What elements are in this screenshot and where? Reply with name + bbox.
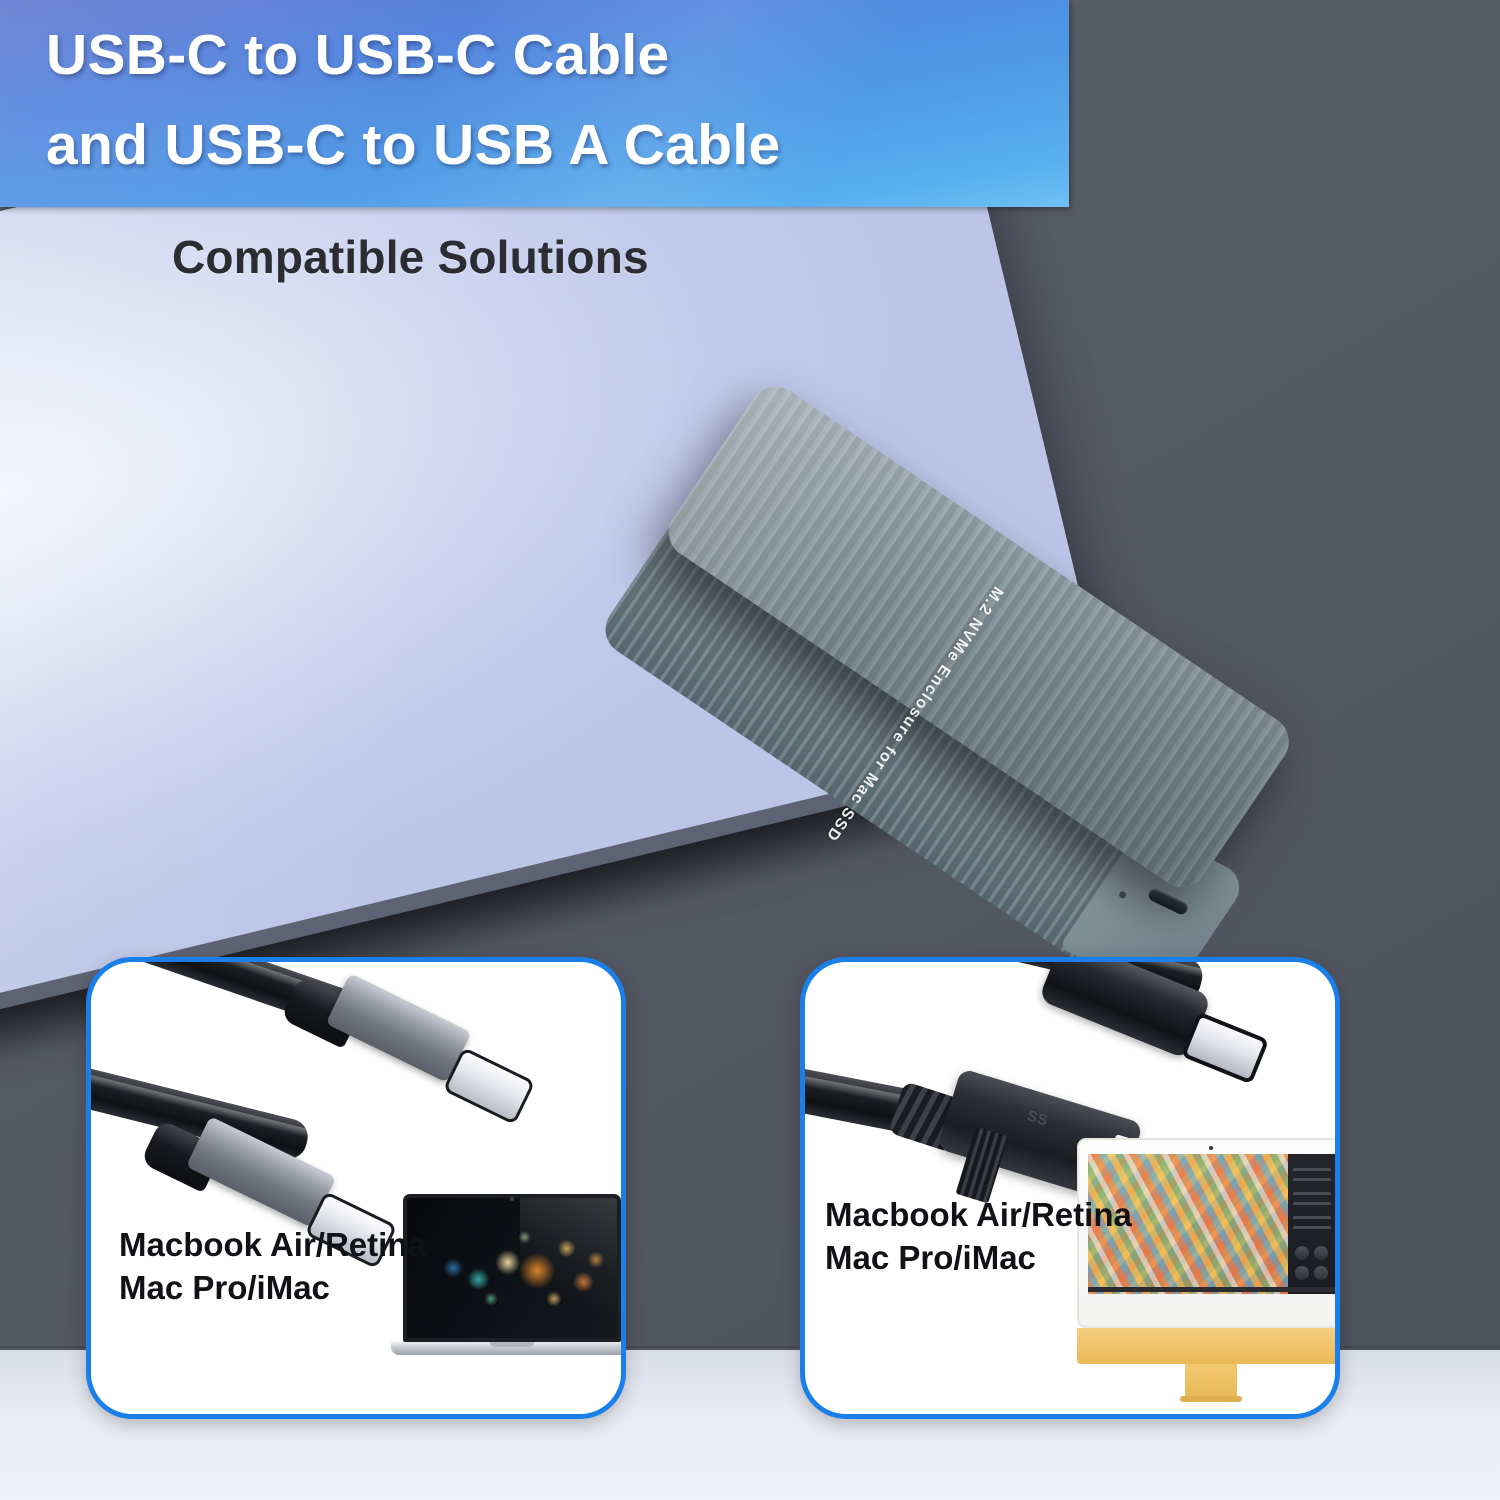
banner-title-line-1: USB-C to USB-C Cable: [46, 22, 670, 88]
imac-chin: [1077, 1328, 1335, 1364]
product-marketing-image: M.2 NVMe Enclosure for Mac SSD USB-C to …: [0, 0, 1500, 1500]
caption-line-1: Macbook Air/Retina: [825, 1194, 1132, 1237]
sidebar-row: [1293, 1178, 1331, 1181]
sidebar-row: [1293, 1202, 1331, 1205]
sidebar-row: [1293, 1216, 1331, 1219]
subtitle-heading: Compatible Solutions: [172, 230, 649, 284]
imac-editor-toolbar: [1088, 1287, 1335, 1292]
imac-stand-foot: [1180, 1396, 1242, 1402]
panel-usbc-to-usbc-caption: Macbook Air/Retina Mac Pro/iMac: [119, 1224, 426, 1310]
macbook-front-notch: [490, 1342, 534, 1347]
sidebar-dial: [1314, 1246, 1328, 1260]
imac-camera-icon: [1209, 1146, 1213, 1150]
usbc-connector-tip-upper: [443, 1047, 536, 1125]
panel-usbc-to-usbc: Macbook Air/Retina Mac Pro/iMac: [86, 957, 626, 1419]
imac-stand-neck: [1185, 1364, 1237, 1400]
caption-line-2: Mac Pro/iMac: [825, 1237, 1132, 1280]
sidebar-row: [1293, 1168, 1331, 1171]
sidebar-dial: [1295, 1266, 1309, 1280]
usbc-connector-tip: [1181, 1012, 1269, 1085]
title-banner: USB-C to USB-C Cable and USB-C to USB A …: [0, 0, 1069, 207]
cable-highlight: [91, 1060, 310, 1139]
sidebar-row: [1293, 1192, 1331, 1195]
panel-usbc-to-usbc-content: Macbook Air/Retina Mac Pro/iMac: [91, 962, 621, 1414]
panel-usbc-to-usba-content: SS: [805, 962, 1335, 1414]
imac-editor-sidebar: [1288, 1154, 1335, 1294]
macbook-camera-icon: [510, 1197, 514, 1201]
sidebar-dial: [1314, 1266, 1328, 1280]
panel-usbc-to-usba-caption: Macbook Air/Retina Mac Pro/iMac: [825, 1194, 1132, 1280]
macbook-screen-glare: [520, 1198, 617, 1338]
usbc-connector-barrel-upper: [326, 973, 472, 1083]
panel-usbc-to-usba: SS: [800, 957, 1340, 1419]
caption-line-1: Macbook Air/Retina: [119, 1224, 426, 1267]
macbook-screen: [403, 1194, 621, 1342]
sidebar-dial: [1295, 1246, 1309, 1260]
banner-title-line-2: and USB-C to USB A Cable: [46, 112, 781, 178]
sidebar-row: [1293, 1226, 1331, 1229]
caption-line-2: Mac Pro/iMac: [119, 1267, 426, 1310]
